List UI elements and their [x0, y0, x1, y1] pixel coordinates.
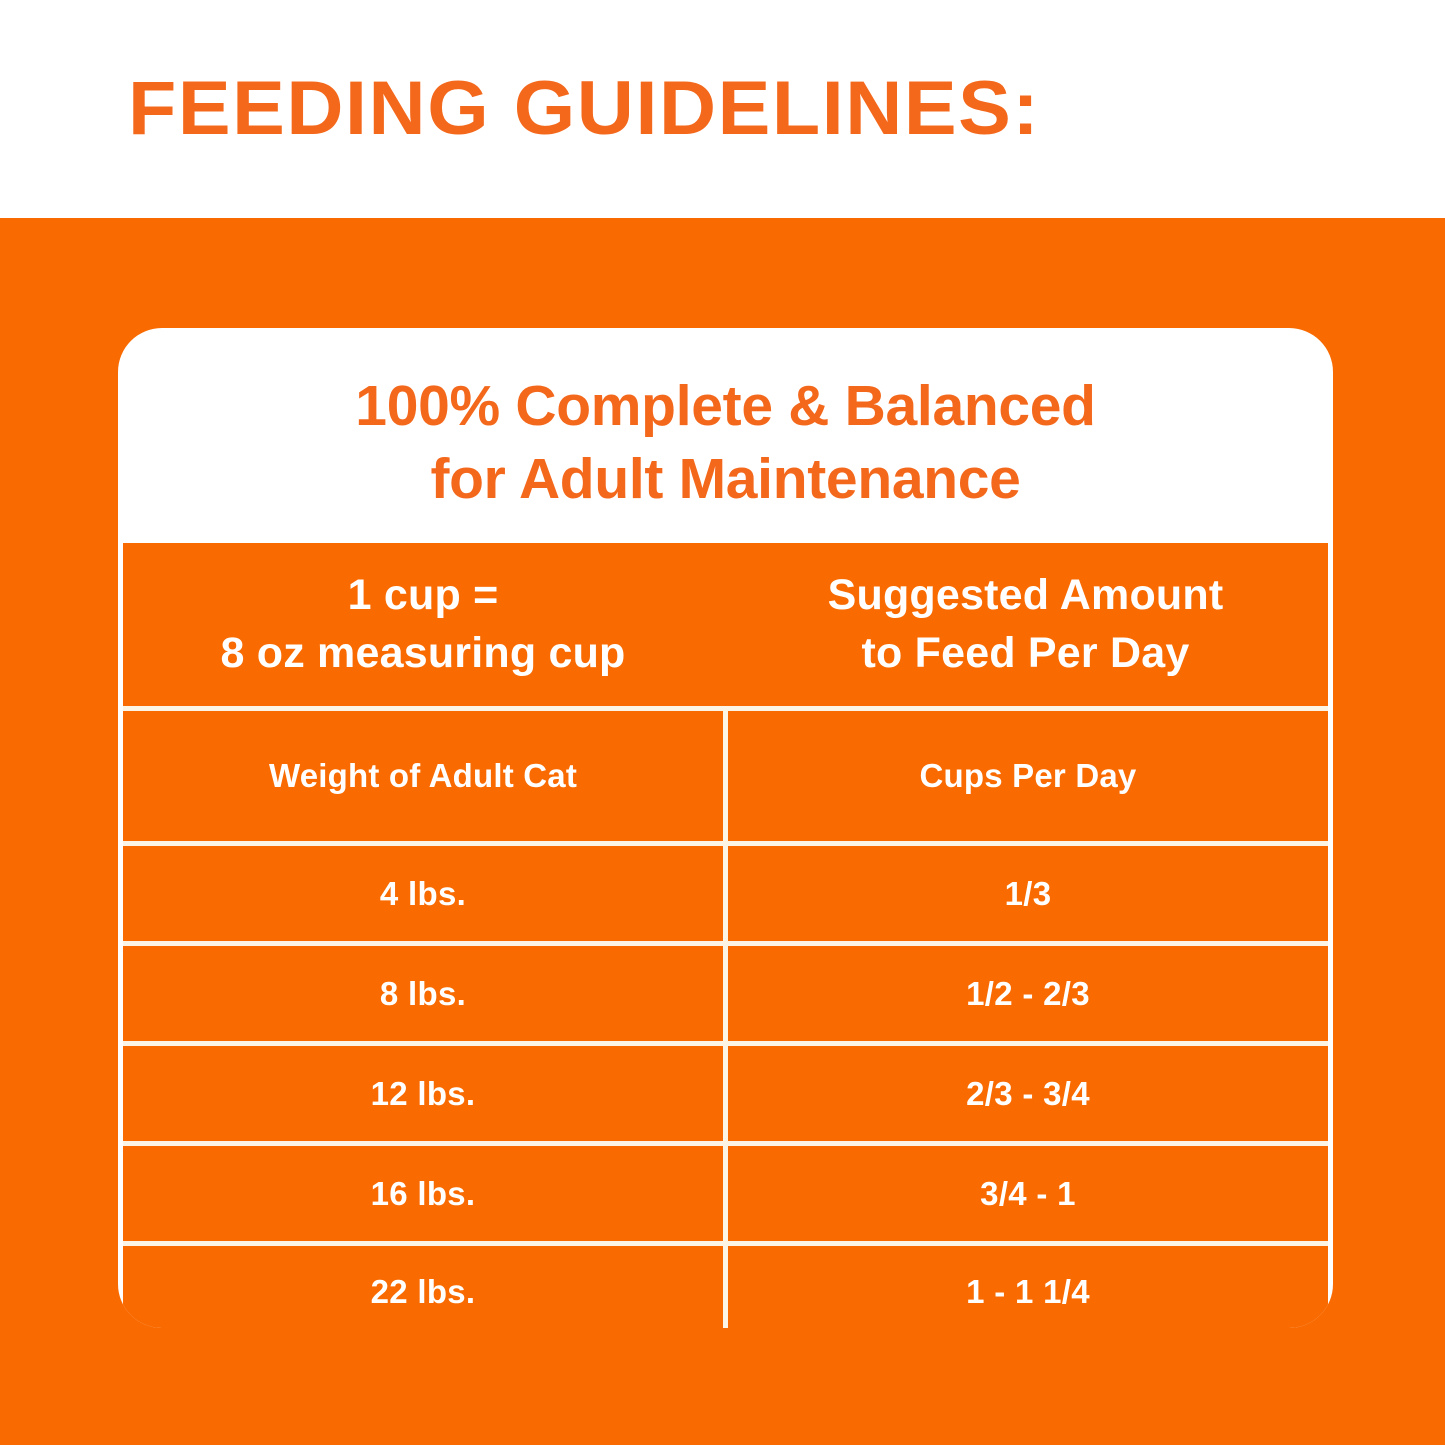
cell-weight: 22 lbs.	[123, 1246, 723, 1328]
card-heading-line-1: 100% Complete & Balanced	[118, 370, 1333, 443]
header-cell-suggested-amount: Suggested Amount to Feed Per Day	[723, 543, 1328, 706]
table-header-row: 1 cup = 8 oz measuring cup Suggested Amo…	[123, 543, 1328, 706]
cell-cups: 1/2 - 2/3	[723, 946, 1328, 1041]
cell-cups: 2/3 - 3/4	[723, 1046, 1328, 1141]
card-heading: 100% Complete & Balanced for Adult Maint…	[118, 328, 1333, 516]
cell-cups: 3/4 - 1	[723, 1146, 1328, 1241]
table-row: 12 lbs. 2/3 - 3/4	[123, 1041, 1328, 1141]
cell-cups: 1 - 1 1/4	[723, 1246, 1328, 1328]
column-header-weight: Weight of Adult Cat	[123, 711, 723, 841]
table-row: 4 lbs. 1/3	[123, 841, 1328, 941]
page-title: FEEDING GUIDELINES:	[128, 71, 1040, 147]
cup-definition-line-2: 8 oz measuring cup	[220, 625, 625, 682]
guidelines-card: 100% Complete & Balanced for Adult Maint…	[118, 328, 1333, 1328]
cell-weight: 4 lbs.	[123, 846, 723, 941]
suggested-amount-line-1: Suggested Amount	[828, 567, 1224, 624]
feeding-guidelines-panel: FEEDING GUIDELINES: 100% Complete & Bala…	[0, 0, 1445, 1445]
cell-weight: 16 lbs.	[123, 1146, 723, 1241]
feeding-table: 1 cup = 8 oz measuring cup Suggested Amo…	[123, 543, 1328, 1328]
table-row: 16 lbs. 3/4 - 1	[123, 1141, 1328, 1241]
table-row: 8 lbs. 1/2 - 2/3	[123, 941, 1328, 1041]
table-row: 22 lbs. 1 - 1 1/4	[123, 1241, 1328, 1328]
cell-weight: 8 lbs.	[123, 946, 723, 1041]
column-header-cups: Cups Per Day	[723, 711, 1328, 841]
header-cell-cup-definition: 1 cup = 8 oz measuring cup	[123, 543, 723, 706]
cell-cups: 1/3	[723, 846, 1328, 941]
cell-weight: 12 lbs.	[123, 1046, 723, 1141]
card-heading-line-2: for Adult Maintenance	[118, 443, 1333, 516]
suggested-amount-line-2: to Feed Per Day	[828, 625, 1224, 682]
table-column-header-row: Weight of Adult Cat Cups Per Day	[123, 706, 1328, 841]
cup-definition-line-1: 1 cup =	[220, 567, 625, 624]
title-band: FEEDING GUIDELINES:	[0, 0, 1445, 218]
